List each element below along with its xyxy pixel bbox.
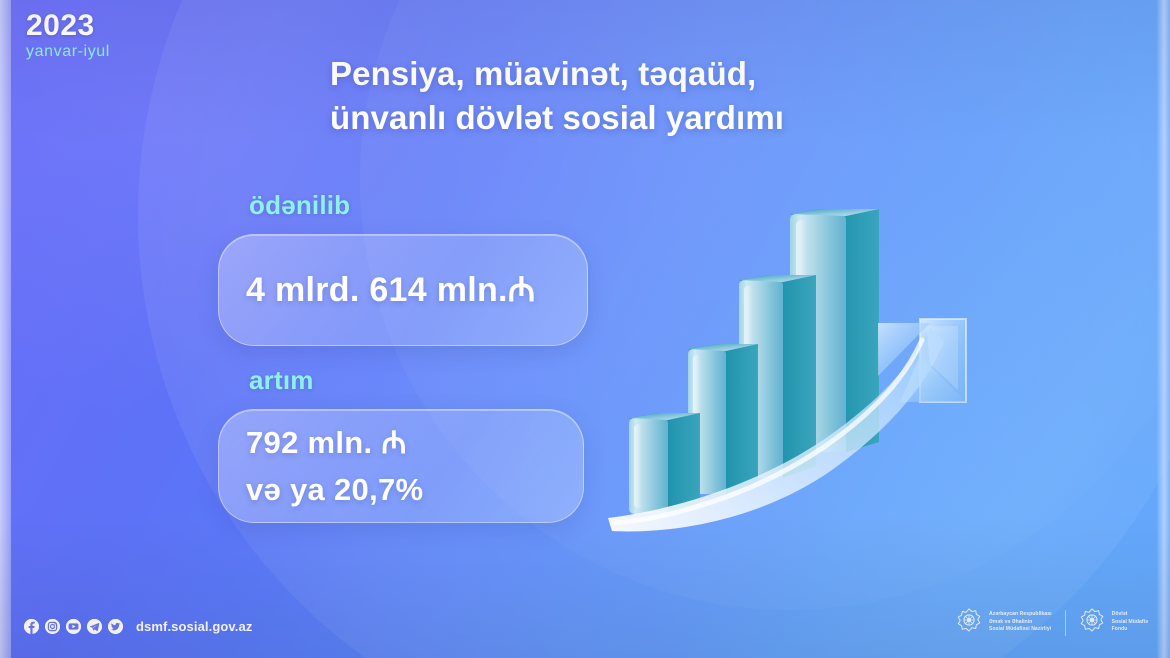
- bar-1: [629, 413, 700, 514]
- stat-label-paid: ödənilib: [249, 190, 350, 221]
- facebook-icon[interactable]: [24, 619, 39, 634]
- footer-website-url[interactable]: dsmf.sosial.gov.az: [136, 619, 252, 634]
- instagram-icon[interactable]: [45, 619, 60, 634]
- stat-label-growth: artım: [249, 365, 314, 396]
- telegram-icon[interactable]: [87, 619, 102, 634]
- footer-social-bar: dsmf.sosial.gov.az: [24, 619, 252, 634]
- stat-card-paid: 4 mlrd. 614 mln.₼: [218, 234, 588, 346]
- stat-value-growth-percent: və ya 20,7%: [246, 474, 583, 505]
- title-line-1: Pensiya, müavinət, təqaüd,: [330, 55, 756, 92]
- twitter-icon[interactable]: [108, 619, 123, 634]
- dsmf-logo-text: Dövlət Sosial Müdafiə Fondu: [1112, 611, 1148, 635]
- dsmf-logo: Dövlət Sosial Müdafiə Fondu: [1079, 607, 1148, 638]
- dsmf-star-emblem-icon: [1079, 607, 1105, 638]
- ministry-logo-text: Azərbaycan Respublikası Əmək və Əhalinin…: [989, 611, 1052, 635]
- azerbaijan-star-emblem-icon: [956, 607, 982, 638]
- logo-divider: [1065, 610, 1066, 636]
- stat-value-paid: 4 mlrd. 614 mln.₼: [246, 273, 587, 307]
- ministry-logo: Azərbaycan Respublikası Əmək və Əhalinin…: [956, 607, 1052, 638]
- footer-logo-bar: Azərbaycan Respublikası Əmək və Əhalinin…: [956, 607, 1148, 638]
- right-edge-strip: [1157, 0, 1170, 658]
- growth-bar-chart-illustration: [600, 190, 1000, 535]
- year-label: 2023: [26, 10, 110, 42]
- stat-card-growth: 792 mln. ₼ və ya 20,7%: [218, 409, 584, 523]
- youtube-icon[interactable]: [66, 619, 81, 634]
- infographic-canvas: 2023 yanvar-iyul Pensiya, müavinət, təqa…: [0, 0, 1170, 658]
- title-line-2: ünvanlı dövlət sosial yardımı: [330, 96, 890, 140]
- left-edge-strip: [0, 0, 11, 658]
- stat-value-growth-amount: 792 mln. ₼: [246, 427, 583, 458]
- page-title: Pensiya, müavinət, təqaüd, ünvanlı dövlə…: [330, 52, 890, 140]
- period-label: yanvar-iyul: [26, 43, 110, 61]
- date-block: 2023 yanvar-iyul: [26, 10, 110, 61]
